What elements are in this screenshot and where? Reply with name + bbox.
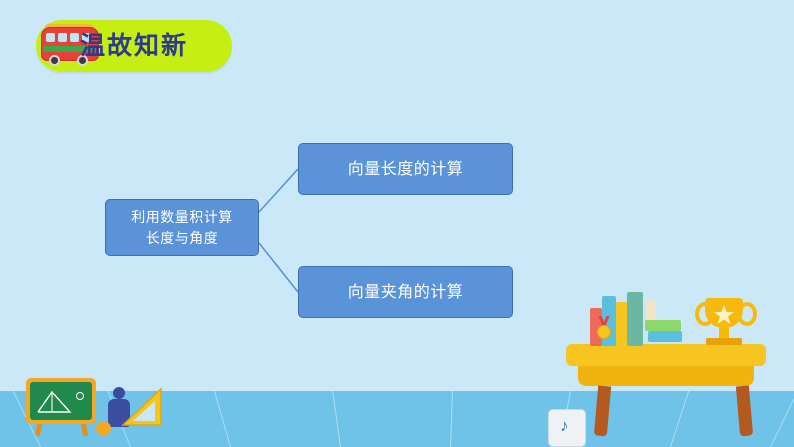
music-note-glyph: ♪ (560, 416, 569, 436)
trophy-stem (719, 328, 729, 338)
medal-icon (596, 316, 614, 342)
book-3 (616, 302, 627, 346)
slide-canvas: 温故知新 利用数量积计算 长度与角度 向量长度的计算 向量夹角的计算 (0, 0, 794, 447)
ball-icon (96, 421, 111, 436)
triangle-ruler-icon (121, 385, 165, 429)
desk-apron (578, 366, 754, 386)
book-flat-3 (646, 300, 656, 320)
desk-icon (566, 344, 766, 366)
diagram-root-node[interactable]: 利用数量积计算 长度与角度 (105, 199, 259, 256)
trophy-icon (705, 298, 743, 328)
book-4 (627, 292, 643, 346)
diagram-branch-node-1[interactable]: 向量长度的计算 (298, 143, 513, 195)
diagram-branch-node-2[interactable]: 向量夹角的计算 (298, 266, 513, 318)
blackboard-drawing (30, 382, 92, 420)
trophy-star (705, 298, 743, 328)
book-flat-1 (645, 320, 681, 331)
blackboard-icon (26, 378, 96, 424)
book-flat-2 (648, 331, 682, 342)
trophy-base (706, 338, 742, 345)
